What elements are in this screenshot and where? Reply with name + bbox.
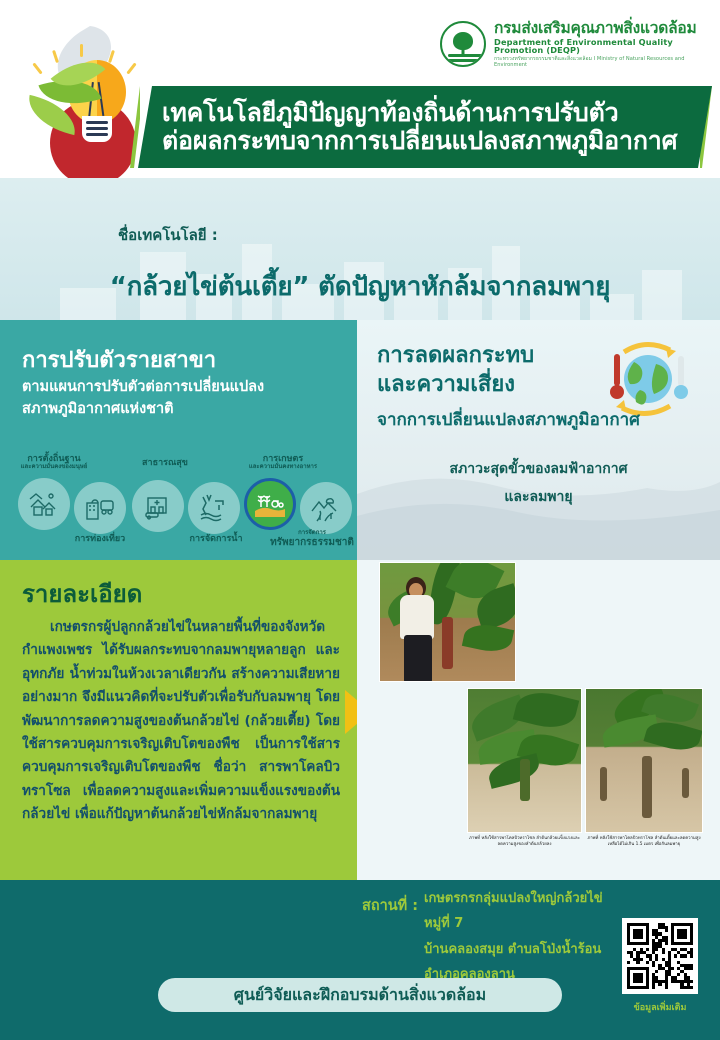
banana-plantation-photo — [585, 688, 703, 833]
title-line-1: เทคโนโลยีภูมิปัญญาท้องถิ่นด้านการปรับตัว — [162, 99, 712, 127]
water-management-tap-icon — [197, 491, 231, 525]
sector-label-agriculture: การเกษตร และความมั่นคงทางอาหาร — [228, 454, 338, 471]
poster-root: กรมส่งเสริมคุณภาพสิ่งแวดล้อม Department … — [0, 0, 720, 1040]
tourism-city-bus-icon — [83, 491, 117, 525]
qr-modules — [627, 923, 693, 989]
deqp-seal-icon — [440, 21, 486, 67]
details-panel: รายละเอียด เกษตรกรผู้ปลูกกล้วยไข่ในหลายพ… — [0, 560, 357, 880]
header-band: กรมส่งเสริมคุณภาพสิ่งแวดล้อม Department … — [0, 0, 720, 200]
sector-icon-water[interactable] — [188, 482, 240, 534]
bulb-base — [82, 116, 112, 142]
farmer-with-banana-plant-photo — [379, 562, 516, 682]
technology-name-band: ชื่อเทคโนโลยี : “กล้วยไข่ต้นเตี้ย” ตัดปั… — [0, 178, 720, 320]
agriculture-wheat-tractor-icon — [253, 487, 287, 521]
org-name-thai: กรมส่งเสริมคุณภาพสิ่งแวดล้อม — [494, 20, 708, 37]
ministry-line: กระทรวงทรัพยากรธรรมชาติและสิ่งแวดล้อม I … — [494, 57, 708, 68]
mitigation-heading: การลดผลกระทบ และความเสี่ยง — [377, 342, 534, 399]
sector-label-tourism: การท่องเที่ยว — [52, 534, 148, 544]
photo-gallery: ภาพที่ หลังใช้สารพาโคลบิวทราโซล ลำต้นกล้… — [357, 560, 720, 880]
public-health-hospital-icon — [141, 489, 175, 523]
photo-caption-2: ภาพที่ หลังใช้สารพาโคลบิวทราโซล ลำต้นเตี… — [585, 836, 703, 848]
mitigation-subheading: จากการเปลี่ยนแปลงสภาพภูมิอากาศ — [377, 406, 640, 433]
org-name-english: Department of Environmental Quality Prom… — [494, 38, 708, 56]
settlement-houses-icon — [27, 487, 61, 521]
qr-code-icon[interactable] — [622, 918, 698, 994]
details-heading: รายละเอียด — [22, 574, 142, 613]
sector-label-natural-resources: การจัดการ ทรัพยากรธรรมชาติ — [262, 530, 362, 548]
qr-caption: ข้อมูลเพิ่มเติม — [612, 1000, 708, 1014]
risk-line-2: และลมพายุ — [357, 486, 720, 508]
adaptation-heading: การปรับตัวรายสาขา — [22, 342, 216, 377]
poster-title-ribbon: เทคโนโลยีภูมิปัญญาท้องถิ่นด้านการปรับตัว… — [138, 86, 712, 168]
location-label: สถานที่ : — [362, 894, 418, 917]
technology-label: ชื่อเทคโนโลยี : — [118, 223, 218, 247]
footer-organization-text: ศูนย์วิจัยและฝึกอบรมด้านสิ่งแวดล้อม — [234, 983, 486, 1008]
mitigation-panel: การลดผลกระทบ และความเสี่ยง จากการเปลี่ยน… — [357, 320, 720, 560]
location-line-1: เกษตรกรกลุ่มแปลงใหญ่กล้วยไข่ หมู่ที่ 7 — [424, 886, 620, 937]
adaptation-panel: การปรับตัวรายสาขา ตามแผนการปรับตัวต่อการ… — [0, 320, 357, 560]
photo-caption-1: ภาพที่ หลังใช้สารพาโคลบิวทราโซล ลำต้นกล้… — [467, 836, 582, 848]
sector-label-water: การจัดการน้ำ — [168, 534, 264, 544]
adaptation-subheading: ตามแผนการปรับตัวต่อการเปลี่ยนแปลง สภาพภู… — [22, 376, 342, 421]
location-line-2: บ้านคลองสมุย ตำบลโป่งน้ำร้อน — [424, 937, 620, 962]
sector-icons-row: การตั้งถิ่นฐาน และความมั่นคงของมนุษย์ สา… — [6, 472, 356, 556]
sector-label-settlement: การตั้งถิ่นฐาน และความมั่นคงของมนุษย์ — [6, 454, 102, 471]
lightbulb-leaf-pin-graphic — [20, 48, 150, 193]
deqp-logo: กรมส่งเสริมคุณภาพสิ่งแวดล้อม Department … — [440, 14, 708, 74]
natural-resources-mountain-icon — [309, 491, 343, 525]
sector-icon-tourism[interactable] — [74, 482, 126, 534]
footer-organization-pill[interactable]: ศูนย์วิจัยและฝึกอบรมด้านสิ่งแวดล้อม — [158, 978, 562, 1012]
details-body: เกษตรกรผู้ปลูกกล้วยไข่ในหลายพื้นที่ของจั… — [22, 616, 340, 826]
sector-icon-agriculture[interactable] — [244, 478, 296, 530]
sector-icon-public-health[interactable] — [132, 480, 184, 532]
sector-icon-natural-resources[interactable] — [300, 482, 352, 534]
dwarf-banana-plant-photo — [467, 688, 582, 833]
sector-label-health: สาธารณสุข — [120, 458, 210, 468]
title-line-2: ต่อผลกระทบจากการเปลี่ยนแปลงสภาพภูมิอากาศ — [162, 127, 712, 155]
sector-icon-settlement[interactable] — [18, 478, 70, 530]
technology-name: “กล้วยไข่ต้นเตี้ย” ตัดปัญหาหักล้มจากลมพา… — [0, 266, 720, 307]
risk-line-1: สภาวะสุดขั้วของลมฟ้าอากาศ — [357, 458, 720, 480]
